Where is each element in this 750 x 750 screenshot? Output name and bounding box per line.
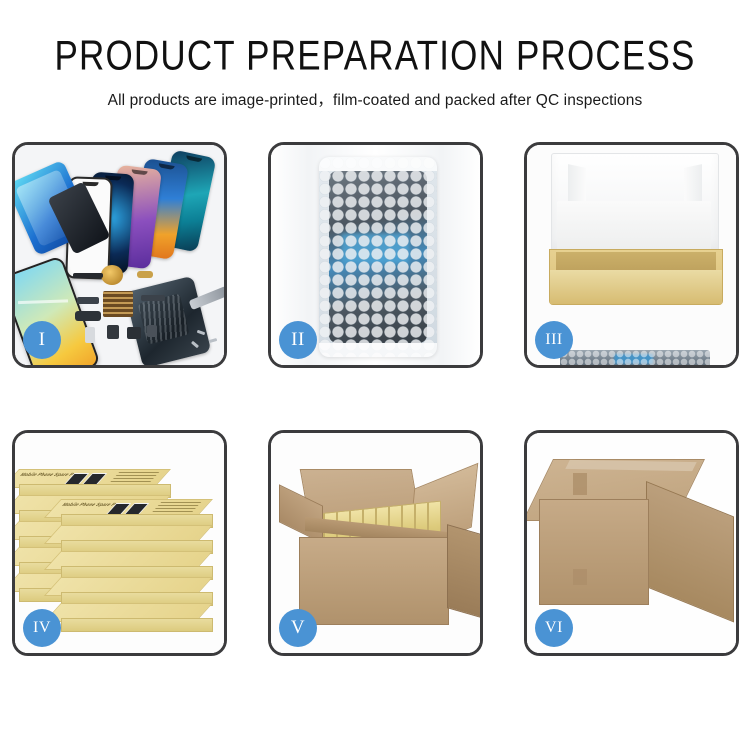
chip-grid-icon	[103, 291, 133, 317]
step-badge-i: I	[23, 321, 61, 359]
step-panel-ii: II	[268, 142, 483, 368]
step-panel-v: V	[268, 430, 483, 656]
page-title: PRODUCT PREPARATION PROCESS	[0, 34, 750, 79]
page-subtitle: All products are image-printed，film-coat…	[0, 88, 750, 110]
step-panel-iv: Mobile Phone Spare Parts Mobile Ph	[12, 430, 227, 656]
mailer-box-icon	[549, 249, 723, 305]
carton-body-icon	[299, 537, 449, 625]
step-badge-ii: II	[279, 321, 317, 359]
step-panel-vi: VI	[524, 430, 739, 656]
bubble-wrap-icon	[319, 157, 437, 357]
sealed-carton-front-icon	[539, 499, 649, 605]
steps-grid: I II	[12, 142, 738, 682]
product-preparation-infographic: PRODUCT PREPARATION PROCESS All products…	[0, 0, 750, 750]
step-panel-iii: III	[524, 142, 739, 368]
step-panel-i: I	[12, 142, 227, 368]
step-badge-v: V	[279, 609, 317, 647]
step-badge-iii: III	[535, 321, 573, 359]
step-badge-iv: IV	[23, 609, 61, 647]
step-badge-vi: VI	[535, 609, 573, 647]
speaker-coil-icon	[101, 265, 123, 285]
header: PRODUCT PREPARATION PROCESS All products…	[0, 0, 750, 110]
wrapped-items-icon	[560, 350, 710, 365]
